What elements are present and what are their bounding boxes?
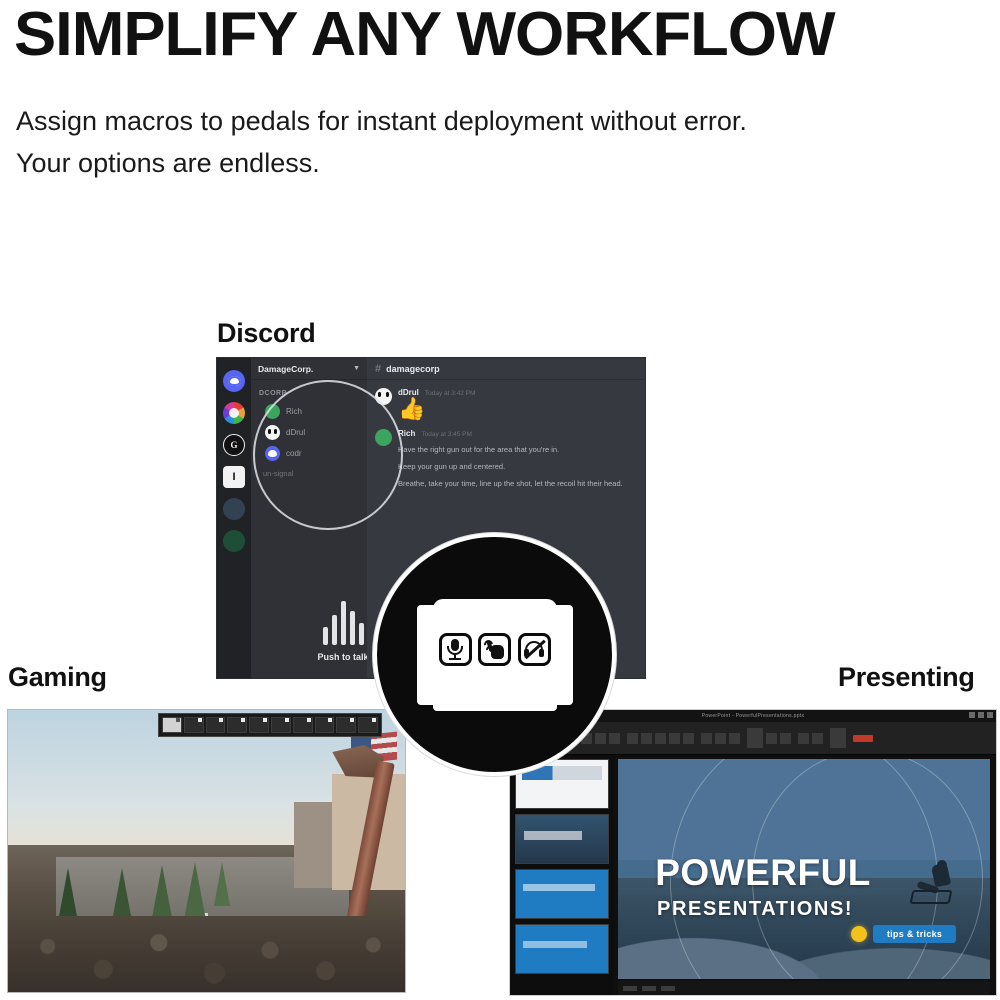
maximize-icon[interactable]	[978, 712, 984, 718]
game-rubble	[8, 916, 405, 992]
discord-server-header[interactable]: DamageCorp. ▼	[251, 358, 367, 380]
slide-title: POWERFUL	[655, 856, 871, 890]
microphone-icon	[444, 638, 466, 660]
discord-channel-header: # damagecorp	[367, 358, 645, 380]
message-timestamp: Today at 3:42 PM	[425, 390, 476, 397]
status-item	[623, 986, 637, 991]
subtitle-line-1: Assign macros to pedals for instant depl…	[16, 100, 956, 142]
message-text: Keep your gun up and centered.	[398, 461, 637, 472]
chevron-down-icon: ▼	[353, 365, 360, 372]
hotbar-slot[interactable]	[315, 717, 335, 733]
ribbon-group-font[interactable]	[627, 733, 694, 744]
slide-tips-button[interactable]: tips & tricks	[873, 925, 956, 943]
headset-mute-icon	[523, 638, 545, 660]
subtitle-line-2: Your options are endless.	[16, 142, 956, 184]
hotbar-slot[interactable]	[227, 717, 247, 733]
avatar	[265, 404, 280, 419]
record-button[interactable]	[853, 735, 873, 742]
slide-accent-dot	[851, 926, 867, 942]
pedal-button-mic[interactable]	[439, 633, 472, 666]
color-wheel-icon[interactable]	[223, 402, 245, 424]
slide-thumbnail[interactable]	[515, 924, 609, 974]
discord-server-name: DamageCorp.	[258, 364, 313, 374]
status-item	[661, 986, 675, 991]
page-title: SIMPLIFY ANY WORKFLOW	[14, 4, 1000, 66]
hand-click-icon	[484, 638, 506, 660]
game-building	[294, 802, 334, 888]
window-controls[interactable]	[969, 712, 993, 718]
discord-channel-sidebar: DamageCorp. ▼ dCorp Rich dDrul codr un-s…	[251, 358, 367, 678]
presenting-caption: Presenting	[838, 662, 975, 693]
active-slide[interactable]: POWERFUL PRESENTATIONS! tips & tricks	[618, 759, 990, 979]
server-dim-icon[interactable]	[223, 498, 245, 520]
hotbar-slot[interactable]	[358, 717, 378, 733]
discord-server-rail: G I	[217, 358, 251, 678]
triple-foot-pedal-icon	[417, 599, 573, 711]
powerpoint-window-title: PowerPoint - PowerfulPresentations.pptx	[702, 713, 805, 719]
discord-channel-name: damagecorp	[386, 364, 440, 374]
server-green-icon[interactable]	[223, 530, 245, 552]
avatar	[265, 425, 280, 440]
slide-subtitle: PRESENTATIONS!	[657, 898, 853, 921]
message-text: Have the right gun out for the area that…	[398, 444, 637, 455]
voice-user-name: dDrul	[286, 428, 305, 437]
slide-thumbnail-panel[interactable]	[510, 755, 614, 995]
ribbon-group-paragraph[interactable]	[701, 733, 740, 744]
slide-thumbnail[interactable]	[515, 814, 609, 864]
ribbon-group-record[interactable]	[830, 728, 846, 748]
hotbar-slot[interactable]	[336, 717, 356, 733]
message-row: dDrul Today at 3:42 PM 👍	[367, 380, 645, 421]
pedal-button-click[interactable]	[478, 633, 511, 666]
avatar	[265, 446, 280, 461]
presenting-screenshot: PowerPoint - PowerfulPresentations.pptx	[510, 710, 996, 995]
gaming-caption: Gaming	[8, 662, 107, 693]
voice-user-row[interactable]: Rich	[251, 401, 367, 422]
voice-user-name: Rich	[286, 407, 302, 416]
message-text: Breathe, take your time, line up the sho…	[398, 478, 637, 489]
voice-user-row[interactable]: dDrul	[251, 422, 367, 443]
close-icon[interactable]	[987, 712, 993, 718]
voice-user-row[interactable]: codr	[251, 443, 367, 464]
discord-logo-icon[interactable]	[223, 370, 245, 392]
thumbs-up-emoji-icon: 👍	[398, 397, 637, 421]
hotbar-slot[interactable]	[249, 717, 269, 733]
voice-user-name: codr	[286, 449, 302, 458]
game-hotbar[interactable]	[159, 714, 381, 736]
slide-thumbnail[interactable]	[515, 869, 609, 919]
pedal-button-headset-mute[interactable]	[518, 633, 551, 666]
text-channel-item[interactable]: un-signal	[251, 464, 367, 478]
hash-icon: #	[375, 363, 381, 375]
hotbar-slot[interactable]	[293, 717, 313, 733]
status-item	[642, 986, 656, 991]
message-author: Rich	[398, 429, 415, 438]
minimize-icon[interactable]	[969, 712, 975, 718]
elgato-g-icon[interactable]: G	[223, 434, 245, 456]
avatar	[375, 388, 392, 405]
gaming-screenshot	[8, 710, 405, 992]
voice-category-label: dCorp	[251, 380, 367, 401]
hotbar-slot[interactable]	[271, 717, 291, 733]
slide-cyclist-figure	[909, 860, 953, 910]
message-row: Rich Today at 3:45 PM Have the right gun…	[367, 421, 645, 489]
hotbar-slot[interactable]	[184, 717, 204, 733]
hotbar-slot[interactable]	[206, 717, 226, 733]
stream-deck-icon[interactable]: I	[223, 466, 245, 488]
foot-pedal-badge	[373, 533, 616, 776]
slide-stage: POWERFUL PRESENTATIONS! tips & tricks	[614, 755, 996, 995]
ribbon-group-drawing[interactable]	[747, 728, 791, 748]
avatar	[375, 429, 392, 446]
message-timestamp: Today at 3:45 PM	[421, 431, 472, 438]
ribbon-group-editing[interactable]	[798, 733, 823, 744]
hotbar-slot[interactable]	[162, 717, 182, 733]
powerpoint-status-bar	[618, 981, 990, 995]
page-subtitle: Assign macros to pedals for instant depl…	[16, 100, 956, 184]
discord-caption: Discord	[217, 318, 315, 349]
